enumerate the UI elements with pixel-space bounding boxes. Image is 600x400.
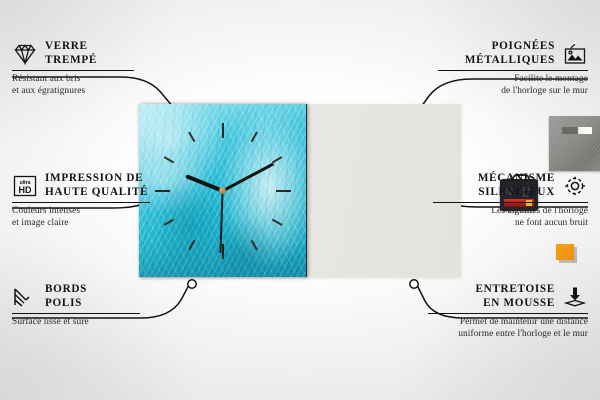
callout-header: VERRE TREMPÉ (12, 40, 147, 67)
callout-title: POIGNÉES MÉTALLIQUES (465, 40, 555, 67)
callout-header: POIGNÉES MÉTALLIQUES (428, 40, 588, 67)
hour-tick (155, 190, 223, 192)
ultra-hd-icon: ultra HD (12, 174, 38, 198)
callout-header: BORDS POLIS (12, 283, 152, 310)
infographic-canvas: VERRE TREMPÉ Résistant aux bris et aux é… (0, 0, 600, 400)
foam-spacer (556, 244, 574, 260)
callout-bords-polis: BORDS POLIS Surface lisse et sûre (12, 283, 152, 329)
picture-frame-icon (562, 42, 588, 66)
dot-entretoise (410, 280, 418, 288)
callout-rule (433, 202, 588, 203)
callout-poignees-metalliques: POIGNÉES MÉTALLIQUES Facilite le montage… (428, 40, 588, 97)
callout-header: ultra HD IMPRESSION DE HAUTE QUALITÉ (12, 172, 162, 199)
callout-header: MÉCANISME SILENCIEUX (423, 172, 588, 199)
callout-title: BORDS POLIS (45, 283, 87, 310)
hour-tick (223, 190, 291, 192)
callout-rule (438, 70, 588, 71)
callout-description: Facilite le montage de l'horloge sur le … (428, 74, 588, 97)
foam-spacer-icon (562, 285, 588, 309)
callout-rule (428, 313, 588, 314)
callout-description: Résistant aux bris et aux égratignures (12, 74, 147, 97)
diamond-icon (12, 42, 38, 66)
metal-hanger-plate (549, 116, 600, 171)
metal-texture (549, 116, 600, 171)
callout-description: Couleurs intenses et image claire (12, 206, 162, 229)
callout-title: IMPRESSION DE HAUTE QUALITÉ (45, 172, 148, 199)
svg-text:HD: HD (19, 185, 32, 195)
callout-title: VERRE TREMPÉ (45, 40, 97, 67)
callout-mecanisme-silencieux: MÉCANISME SILENCIEUX Les aiguilles de l'… (423, 172, 588, 229)
clock-center-cap (219, 187, 226, 194)
callout-description: Surface lisse et sûre (12, 317, 152, 328)
callout-title: MÉCANISME SILENCIEUX (478, 172, 555, 199)
callout-rule (12, 70, 134, 71)
callout-impression-haute-qualite: ultra HD IMPRESSION DE HAUTE QUALITÉ Cou… (12, 172, 162, 229)
callout-entretoise-en-mousse: ENTRETOISE EN MOUSSE Permet de maintenir… (418, 283, 588, 340)
callout-description: Les aiguilles de l'horloge ne font aucun… (423, 206, 588, 229)
product-image (139, 104, 461, 277)
callout-verre-trempe: VERRE TREMPÉ Résistant aux bris et aux é… (12, 40, 147, 97)
clock-face (139, 104, 306, 277)
polished-edges-icon (12, 285, 38, 309)
gear-icon (562, 174, 588, 198)
callout-header: ENTRETOISE EN MOUSSE (418, 283, 588, 310)
hour-tick (222, 123, 224, 191)
callout-rule (12, 202, 150, 203)
callout-title: ENTRETOISE EN MOUSSE (475, 283, 555, 310)
dot-bords-polis (188, 280, 196, 288)
callout-rule (12, 313, 140, 314)
callout-description: Permet de maintenir une distance uniform… (418, 317, 588, 340)
hanger-slot (562, 127, 592, 134)
